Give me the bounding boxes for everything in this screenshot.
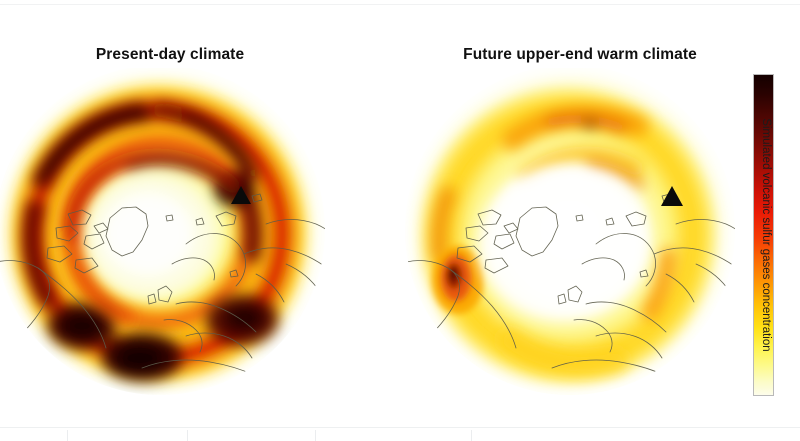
figure-root: Present-day climate [0,0,800,441]
map-svg-present-day [0,68,350,403]
panel-future-warm: Future upper-end warm climate [400,40,760,405]
colorbar-label: Simulated volcanic sulfur gases concentr… [756,74,776,396]
table-cell [68,430,188,441]
table-cell [316,430,472,441]
map-svg-future-warm [400,68,760,403]
table-top-rule [0,427,800,428]
table-cell [472,430,800,441]
table-cell [0,430,68,441]
panel-title-present-day: Present-day climate [0,46,350,64]
top-divider [0,4,800,5]
panel-present-day: Present-day climate [0,40,350,405]
panel-title-future-warm: Future upper-end warm climate [400,46,760,64]
map-present-day [0,68,350,403]
map-future-warm [400,68,760,403]
table-row [0,430,800,441]
colorbar: Simulated volcanic sulfur gases concentr… [750,74,798,399]
bottom-table-partial [0,427,800,441]
table-cell [188,430,316,441]
